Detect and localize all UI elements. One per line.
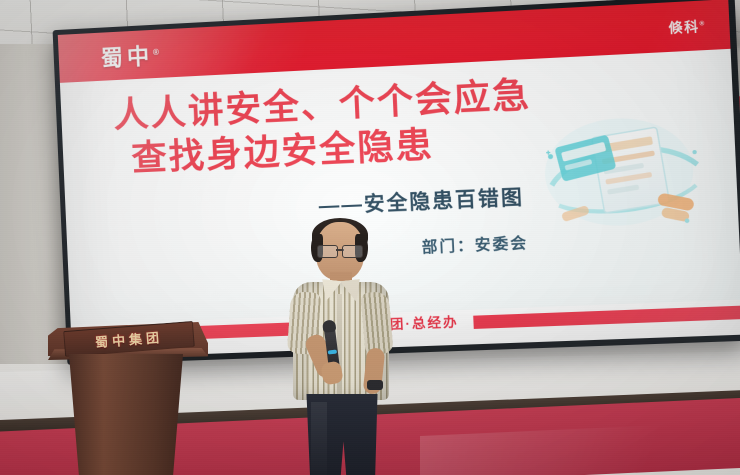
slide-department: 部门：安委会 <box>421 232 528 258</box>
lectern: 蜀中集团 <box>48 322 208 475</box>
registered-mark-icon-2: ® <box>699 21 706 28</box>
registered-mark-icon: ® <box>153 48 159 57</box>
slide-body: 人人讲安全、个个会应急 查找身边安全隐患 ——安全隐患百错图 部门：安委会 <box>60 49 740 325</box>
company-logo-text: 蜀中 <box>100 43 153 71</box>
company-logo-shuzhong: 蜀中® <box>100 39 160 73</box>
glasses-lens-right <box>342 245 363 258</box>
upper-arm-right <box>360 291 393 355</box>
wristwatch <box>367 380 383 390</box>
presenter <box>285 222 397 475</box>
screen-surface: 蜀中® 倏科® <box>58 0 740 359</box>
lectern-text: 蜀中集团 <box>94 327 163 351</box>
trousers-highlight <box>311 402 327 475</box>
glasses-lens-left <box>317 245 338 258</box>
lectern-body <box>64 354 188 475</box>
secondary-logo-text: 倏科 <box>668 19 700 36</box>
secondary-logo: 倏科® <box>668 15 706 38</box>
microphone-head <box>322 319 336 332</box>
slide-subtitle: ——安全隐患百错图 <box>318 180 525 218</box>
microphone-led-indicator <box>328 349 337 354</box>
glasses-icon <box>317 245 363 256</box>
photo-scene: 施政精药通医 畅言互联云计 倏科 蜀中® 倏科® <box>0 0 740 475</box>
